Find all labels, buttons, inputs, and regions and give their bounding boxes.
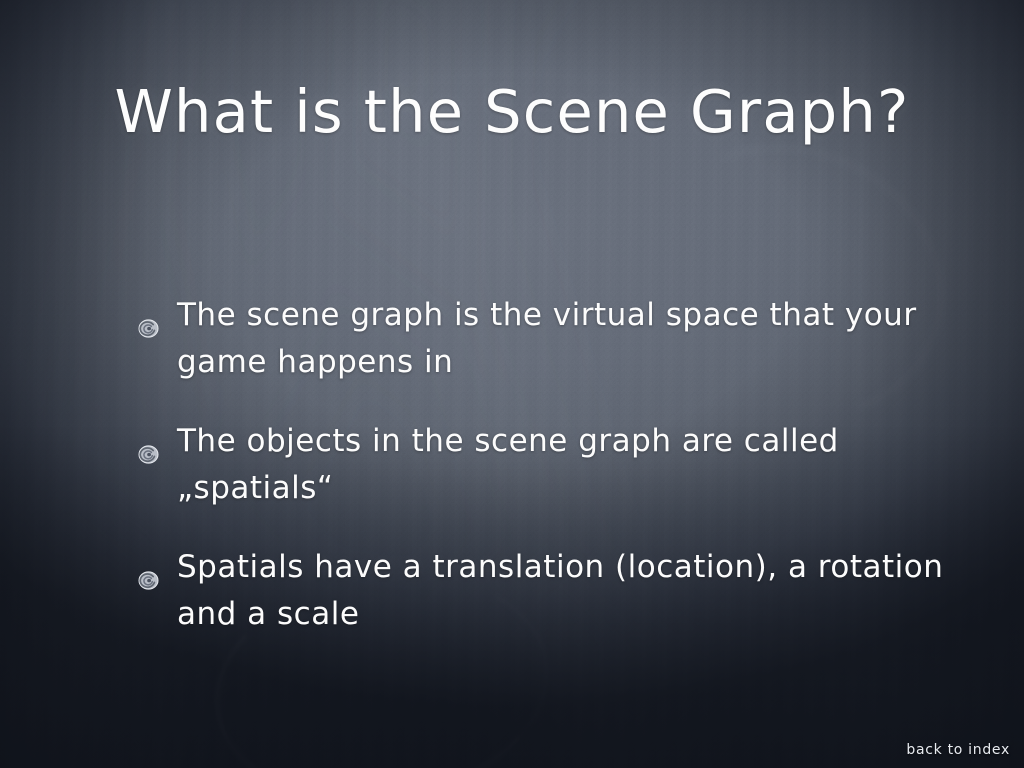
list-item: Spatials have a translation (location), … (133, 544, 965, 638)
slide-title: What is the Scene Graph? (84, 66, 940, 158)
spiral-bullet-icon (138, 557, 159, 576)
back-to-index-link[interactable]: back to index (906, 742, 1010, 758)
list-item: The scene graph is the virtual space tha… (133, 292, 965, 386)
chalkboard-slide: What is the Scene Graph? The scene graph… (0, 0, 1024, 768)
list-item: The objects in the scene graph are calle… (133, 418, 965, 512)
slide-content: What is the Scene Graph? The scene graph… (0, 0, 1024, 768)
spiral-bullet-icon (138, 431, 159, 450)
list-item-text: The objects in the scene graph are calle… (177, 423, 839, 506)
bullet-list: The scene graph is the virtual space tha… (133, 292, 965, 638)
spiral-bullet-icon (138, 305, 159, 324)
list-item-text: The scene graph is the virtual space tha… (177, 297, 917, 380)
list-item-text: Spatials have a translation (location), … (177, 549, 943, 632)
